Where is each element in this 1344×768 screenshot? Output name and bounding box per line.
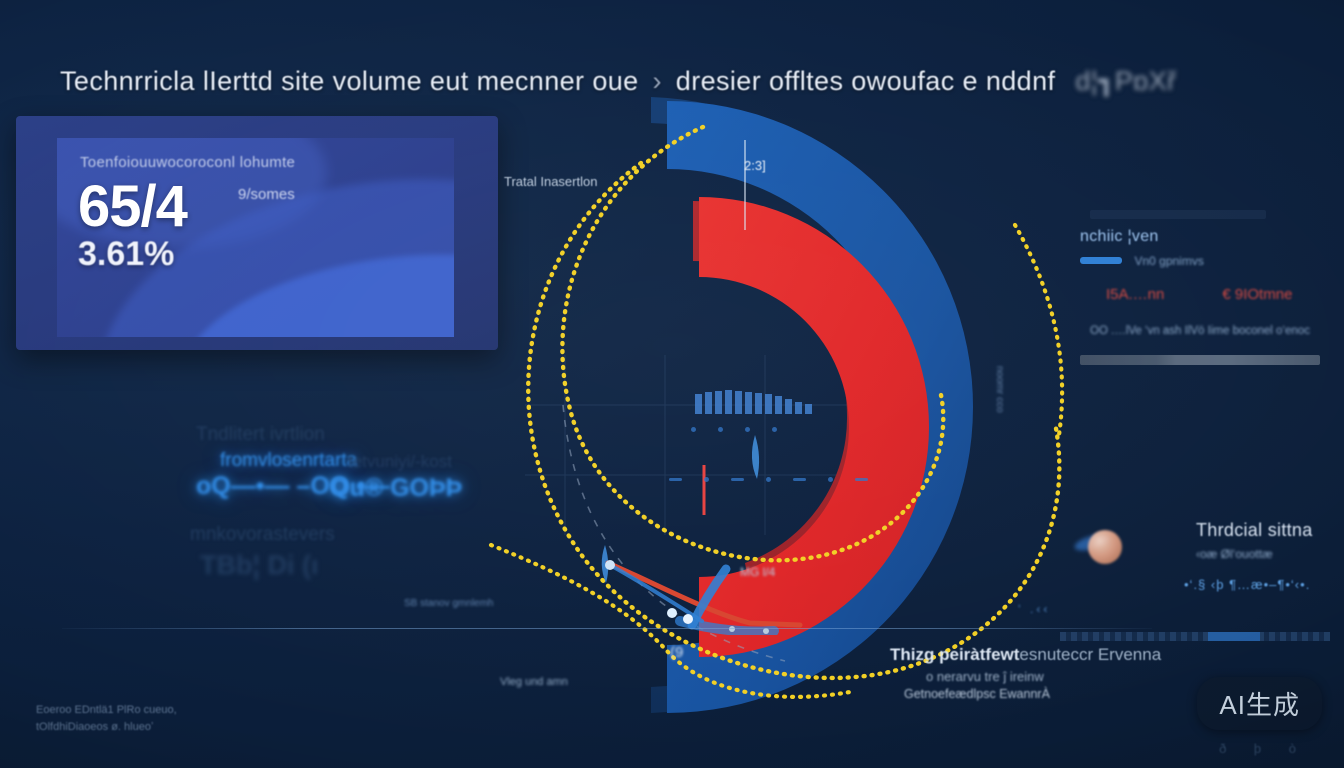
metric-panel-title: nchiic ¦ven	[1080, 228, 1320, 246]
bottom-fade: esnuteccr Ervenna	[1019, 645, 1161, 664]
metric-panel-note: OO .…lVe ‘vn ash IlVö Iime boconel o‘eno…	[1080, 325, 1320, 337]
label-total-insertion: Tratal Inasertlon	[504, 174, 597, 189]
bottom-line-3: Getnoefeædlpsc EwannrÀ	[904, 687, 1190, 701]
label-top-value: 2:3]	[744, 158, 766, 173]
yellow-dotted-arc-right	[1015, 225, 1062, 435]
metric-panel-figures: I5A.…nn € 9IOtmne	[1080, 286, 1320, 303]
label-axis-note: Vleg und amn	[500, 676, 568, 688]
label-mid-marker: (9	[670, 644, 683, 661]
headline-main: Technrricla lIerttd site volume eut mecn…	[60, 66, 639, 96]
metric-progress-bar[interactable]	[1080, 355, 1320, 365]
mini-axis-ticks	[691, 427, 777, 432]
ghost-text-line-1: Tndlitert ivrtlion	[196, 424, 325, 446]
baseline-rule	[62, 628, 1152, 629]
kpi-sub-value: 3.61%	[78, 235, 174, 274]
third-panel-strip	[1060, 632, 1330, 641]
footnote: Eoeroo EDntlä1 PlRo cueuo, tOlfdhiDiaoeo…	[36, 702, 177, 735]
bottom-text-block: Thizg peiràtfewtesnuteccr Ervenna o nera…	[890, 645, 1190, 701]
planet-orb-icon	[1088, 530, 1122, 564]
bottom-line-2: o nerarvu tre ĵ ireinw	[926, 669, 1190, 684]
mini-axis-ticks	[669, 477, 868, 482]
headline-tail: dresier offltes owoufac e nddnf	[676, 66, 1056, 96]
bottom-line-1: Thizg peiràtfewtesnuteccr Ervenna	[890, 645, 1190, 665]
third-panel[interactable]: Thrdcial sittna ‹oæ Øl‘ouottæ •‘.§ ‹þ ¶……	[1080, 520, 1330, 592]
ghost-text-line-4: tetvuniyi/-kost	[348, 452, 452, 472]
metric-figure-2: € 9IOtmne	[1222, 286, 1292, 303]
ai-generated-badge: AI生成	[1197, 677, 1322, 730]
kpi-value: 65/4	[78, 173, 187, 240]
panel-ghost-bar	[1090, 210, 1266, 219]
page-title: Technrricla lIerttd site volume eut mecn…	[60, 66, 1070, 97]
bottom-bold-1: Thizg pe	[890, 645, 959, 664]
third-panel-subtitle: ‹oæ Øl‘ouottæ	[1196, 547, 1330, 561]
footnote-line-1: Eoeroo EDntlä1 PlRo cueuo,	[36, 702, 177, 719]
footnote-line-2: tOlfdhiDiaoeos ø. hlueoʼ	[36, 719, 177, 736]
headline-arrow: ›	[652, 66, 661, 96]
kpi-card[interactable]: Toenfoiouuwocoroconl lohumte 65/4 9/some…	[16, 116, 498, 350]
third-panel-dots: ‘ .‹‹	[1018, 602, 1050, 616]
third-panel-title: Thrdcial sittna	[1196, 520, 1330, 541]
metric-figure-1: I5A.…nn	[1106, 286, 1164, 303]
ghost-text-line-5: Ou® GOÞÞ	[330, 474, 462, 503]
legend-swatch	[1080, 257, 1122, 264]
ai-badge-subglyphs: ð þ ò	[1219, 741, 1308, 756]
sparkline-widget	[560, 555, 830, 635]
mini-bar-chart	[695, 390, 812, 414]
ghost-text-line-6: mnkovorastevers	[190, 524, 335, 546]
ghost-text-line-2: fromvlosenrtarta	[220, 450, 357, 472]
metric-panel[interactable]: nchiic ¦ven Vn0 gpnimvs I5A.…nn € 9IOtmn…	[1080, 210, 1320, 365]
kpi-unit: 9/somes	[238, 186, 295, 203]
headline-glyphs: d¦┓PɒXř	[1075, 66, 1176, 96]
bottom-bold-2: iràtfewt	[959, 645, 1019, 664]
infographic-canvas: Technrricla lIerttd site volume eut mecn…	[0, 0, 1344, 768]
ghost-text-line-7: TBb¦ Di (ı	[200, 550, 319, 581]
metric-panel-subtitle: Vn0 gpnimvs	[1134, 254, 1203, 268]
kpi-label: Toenfoiouuwocoroconl lohumte	[80, 154, 295, 171]
third-panel-glyphs: •‘.§ ‹þ ¶…æ•–¶•‘‹•.	[1184, 577, 1330, 592]
label-arc-vertical: noomr cco	[994, 366, 1005, 413]
